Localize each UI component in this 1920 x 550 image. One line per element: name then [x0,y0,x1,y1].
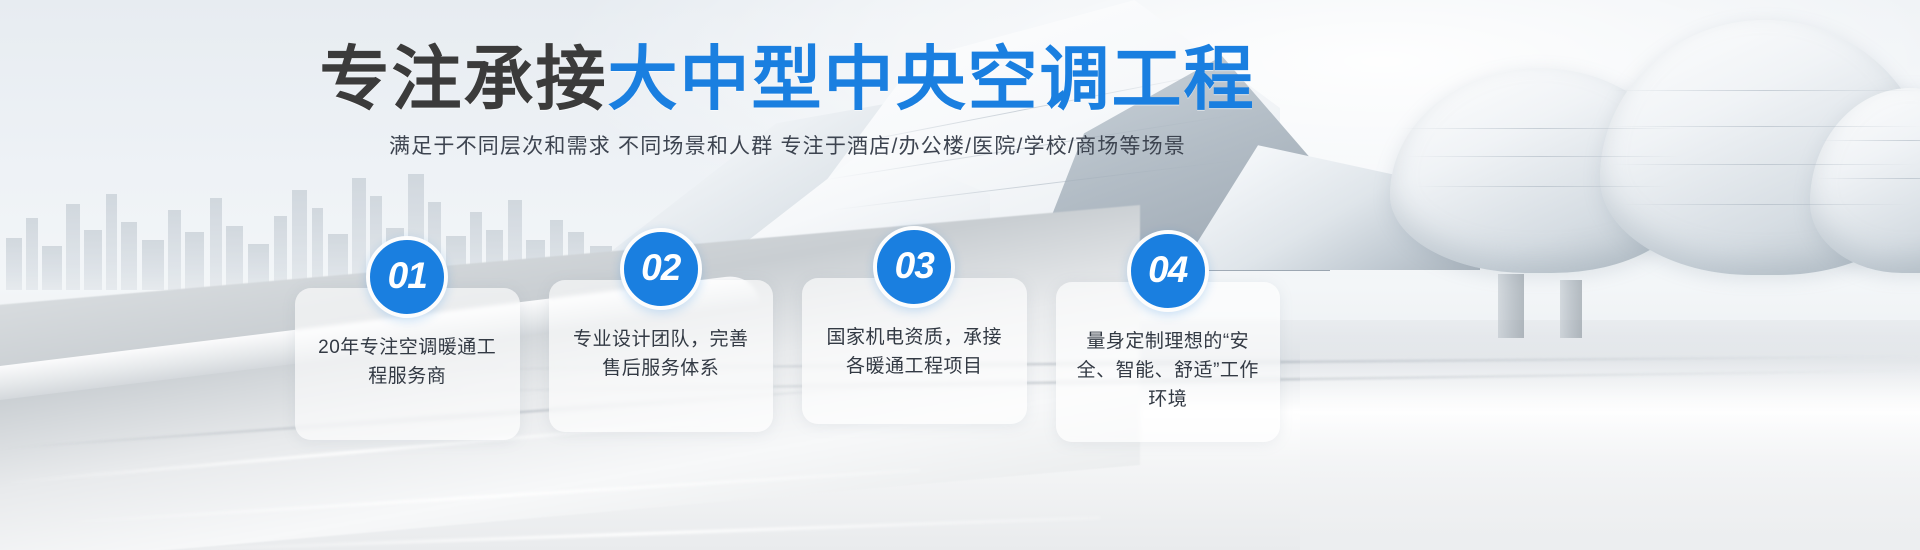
badge-label: 02 [641,247,680,289]
feature-card-03[interactable]: 03 国家机电资质，承接各暖通工程项目 [802,278,1027,424]
headline-dark-part: 专注承接 [320,40,608,118]
badge-label: 04 [1148,249,1187,291]
headline-blue-part: 大中型中央空调工程 [608,40,1256,118]
feature-card-02[interactable]: 02 专业设计团队，完善售后服务体系 [549,280,774,432]
motion-blur-overlay [1300,335,1920,550]
badge-label: 03 [895,245,934,287]
badge-number-02: 02 [620,228,702,310]
feature-card-text: 量身定制理想的“安全、智能、舒适”工作环境 [1074,328,1263,415]
feature-card-list: 01 20年专注空调暖通工程服务商 02 专业设计团队，完善售后服务体系 03 … [295,278,1280,438]
page-subtitle: 满足于不同层次和需求 不同场景和人群 专注于酒店/办公楼/医院/学校/商场等场景 [0,130,1575,160]
feature-card-04[interactable]: 04 量身定制理想的“安全、智能、舒适”工作环境 [1056,282,1281,442]
badge-label: 01 [388,255,427,297]
promo-banner: 专注承接大中型中央空调工程 满足于不同层次和需求 不同场景和人群 专注于酒店/办… [0,0,1920,550]
badge-number-03: 03 [873,226,955,308]
feature-card-text: 20年专注空调暖通工程服务商 [313,334,502,392]
feature-card-01[interactable]: 01 20年专注空调暖通工程服务商 [295,288,520,440]
feature-card-text: 国家机电资质，承接各暖通工程项目 [820,324,1009,382]
badge-number-04: 04 [1127,230,1209,312]
badge-number-01: 01 [366,236,448,318]
page-title: 专注承接大中型中央空调工程 [0,44,1575,114]
feature-card-text: 专业设计团队，完善售后服务体系 [567,326,756,384]
